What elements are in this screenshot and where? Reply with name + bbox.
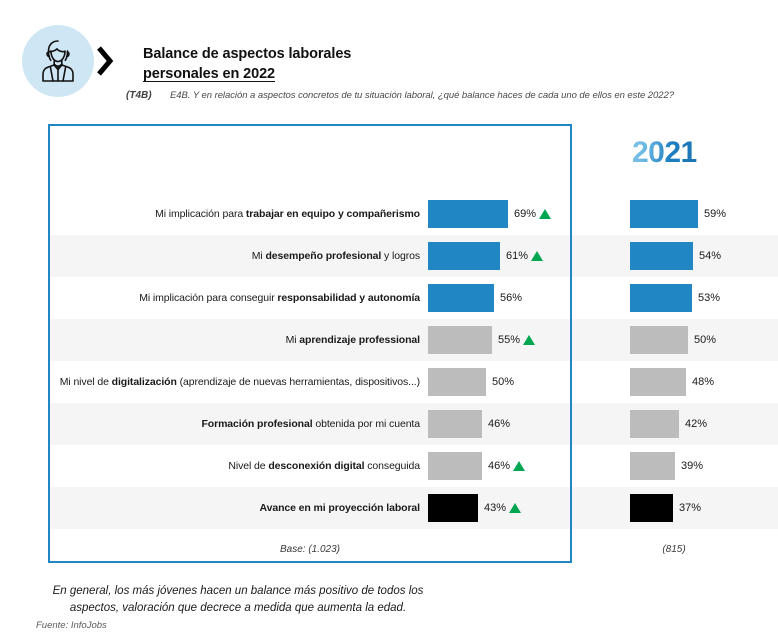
table-row: Formación profesional obtenida por mi cu… (50, 403, 778, 445)
question-code: (T4B) (126, 90, 170, 101)
chevron-right-icon (96, 46, 114, 76)
row-label: Mi implicación para trabajar en equipo y… (50, 208, 428, 221)
trend-up-icon (509, 503, 521, 513)
bar-cell-2021: 42% (630, 403, 778, 445)
bar-2022 (428, 242, 500, 270)
row-label: Nivel de desconexión digital conseguida (50, 460, 428, 473)
title-line-1: Balance de aspectos laborales (143, 44, 763, 64)
bar-cell-2021: 53% (630, 277, 778, 319)
bar-value-2022: 43% (484, 502, 521, 514)
bar-value-2022: 56% (500, 292, 522, 304)
bar-2021 (630, 326, 688, 354)
bar-2022 (428, 494, 478, 522)
bar-cell-2022: 43% (428, 487, 630, 529)
base-label-2021: (815) (600, 537, 748, 561)
bar-cell-2021: 37% (630, 487, 778, 529)
table-row: Mi desempeño profesional y logros61%54% (50, 235, 778, 277)
bar-value-2021: 37% (679, 502, 701, 514)
table-row: Nivel de desconexión digital conseguida4… (50, 445, 778, 487)
bar-2021 (630, 494, 673, 522)
table-row: Mi nivel de digitalización (aprendizaje … (50, 361, 778, 403)
bar-2021 (630, 284, 692, 312)
bar-value-2021: 50% (694, 334, 716, 346)
bar-value-2021: 59% (704, 208, 726, 220)
bar-2021 (630, 452, 675, 480)
bar-cell-2022: 50% (428, 361, 630, 403)
bar-value-2021: 54% (699, 250, 721, 262)
avatar (22, 25, 94, 97)
bar-value-2021: 53% (698, 292, 720, 304)
bar-2021 (630, 242, 693, 270)
bar-2022 (428, 200, 508, 228)
bar-value-2022: 55% (498, 334, 535, 346)
row-label: Mi nivel de digitalización (aprendizaje … (50, 376, 428, 389)
column-divider (570, 193, 572, 537)
bar-cell-2022: 56% (428, 277, 630, 319)
row-label: Mi desempeño profesional y logros (50, 250, 428, 263)
trend-up-icon (539, 209, 551, 219)
row-label: Avance en mi proyección laboral (50, 502, 428, 515)
table-row: Mi implicación para trabajar en equipo y… (50, 193, 778, 235)
bar-cell-2022: 46% (428, 445, 630, 487)
bar-value-2021: 48% (692, 376, 714, 388)
chart-rows: Mi implicación para trabajar en equipo y… (50, 193, 778, 529)
trend-up-icon (531, 251, 543, 261)
table-row: Avance en mi proyección laboral43%37% (50, 487, 778, 529)
bar-value-2022: 61% (506, 250, 543, 262)
bar-value-2021: 42% (685, 418, 707, 430)
bar-cell-2021: 54% (630, 235, 778, 277)
bar-value-2022: 69% (514, 208, 551, 220)
bar-2022 (428, 410, 482, 438)
question-reference: (T4B) E4B. Y en relación a aspectos conc… (126, 90, 674, 101)
row-label: Formación profesional obtenida por mi cu… (50, 418, 428, 431)
source-label: Fuente: InfoJobs (36, 620, 107, 631)
bar-2022 (428, 368, 486, 396)
bar-value-2021: 39% (681, 460, 703, 472)
trend-up-icon (513, 461, 525, 471)
page-title: Balance de aspectos laborales personales… (143, 44, 763, 84)
bar-cell-2022: 61% (428, 235, 630, 277)
bar-cell-2022: 46% (428, 403, 630, 445)
bar-2022 (428, 452, 482, 480)
bar-value-2022: 46% (488, 460, 525, 472)
bar-2021 (630, 368, 686, 396)
page-header: Balance de aspectos laborales personales… (0, 0, 778, 118)
bar-cell-2022: 69% (428, 193, 630, 235)
table-row: Mi implicación para conseguir responsabi… (50, 277, 778, 319)
row-label: Mi aprendizaje professional (50, 334, 428, 347)
bar-2021 (630, 410, 679, 438)
base-label-2022: Base: (1.023) (48, 537, 572, 561)
trend-up-icon (523, 335, 535, 345)
title-line-2: personales en 2022 (143, 64, 763, 84)
bar-cell-2021: 48% (630, 361, 778, 403)
bar-cell-2021: 59% (630, 193, 778, 235)
bar-2021 (630, 200, 698, 228)
bar-cell-2021: 39% (630, 445, 778, 487)
row-label: Mi implicación para conseguir responsabi… (50, 292, 428, 305)
bar-value-2022: 46% (488, 418, 510, 430)
question-text: E4B. Y en relación a aspectos concretos … (170, 90, 674, 101)
table-row: Mi aprendizaje professional55%50% (50, 319, 778, 361)
bar-2022 (428, 284, 494, 312)
woman-avatar-icon (36, 38, 80, 84)
insight-text: En general, los más jóvenes hacen un bal… (28, 583, 448, 617)
bar-value-2022: 50% (492, 376, 514, 388)
bar-cell-2022: 55% (428, 319, 630, 361)
bar-cell-2021: 50% (630, 319, 778, 361)
year-heading-2021: 2021 (632, 136, 697, 170)
bar-2022 (428, 326, 492, 354)
